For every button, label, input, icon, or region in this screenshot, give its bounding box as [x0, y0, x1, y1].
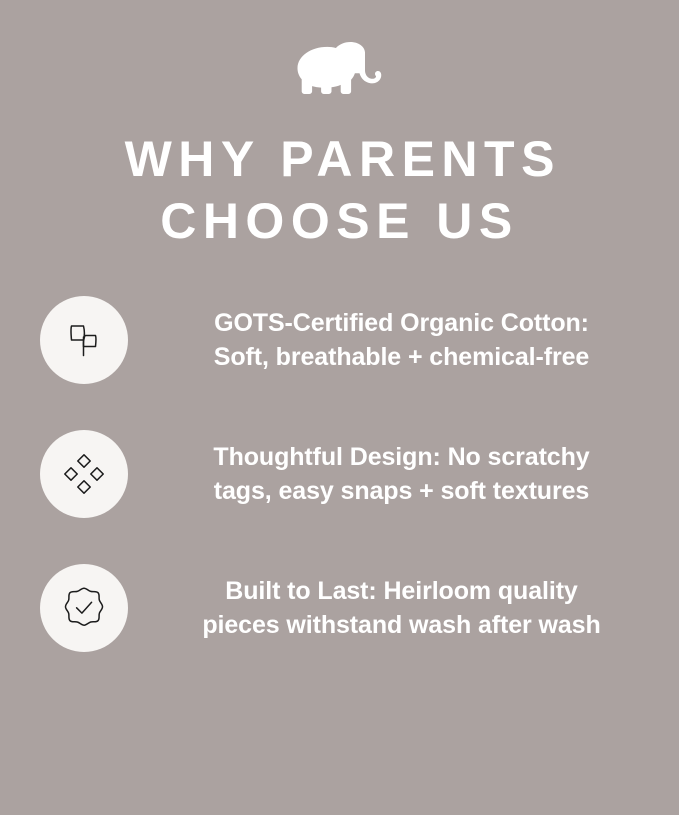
page-title: WHY PARENTS CHOOSE US: [40, 128, 640, 252]
why-parents-choose-us-poster: WHY PARENTS CHOOSE US GOTS-Certified Org…: [0, 0, 679, 815]
feature-item-built-to-last: Built to Last: Heirloom quality pieces w…: [0, 564, 679, 652]
sprout-icon: [40, 296, 128, 384]
feature-text: GOTS-Certified Organic Cotton: Soft, bre…: [128, 306, 679, 374]
feature-text: Built to Last: Heirloom quality pieces w…: [128, 574, 679, 642]
brand-logo: [290, 36, 390, 98]
feature-item-organic-cotton: GOTS-Certified Organic Cotton: Soft, bre…: [0, 296, 679, 384]
badge-check-icon: [40, 564, 128, 652]
elephant-icon: [292, 37, 388, 97]
feature-item-thoughtful-design: Thoughtful Design: No scratchy tags, eas…: [0, 430, 679, 518]
feature-text: Thoughtful Design: No scratchy tags, eas…: [128, 440, 679, 508]
four-diamonds-icon: [40, 430, 128, 518]
feature-list: GOTS-Certified Organic Cotton: Soft, bre…: [0, 296, 679, 652]
